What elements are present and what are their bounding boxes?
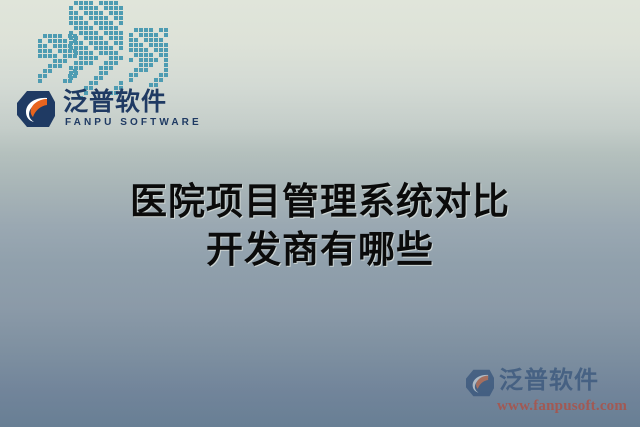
page-title-line-1: 医院项目管理系统对比 (0, 178, 640, 226)
fanpu-logo-icon (465, 369, 495, 397)
watermark-chinese-name: 泛普软件 (499, 367, 599, 395)
fanpu-logo-icon (16, 90, 56, 128)
watermark-url: www.fanpusoft.com (497, 398, 627, 415)
page-title: 医院项目管理系统对比 开发商有哪些 (0, 178, 640, 274)
brand-logo-english-name: FANPU SOFTWARE (65, 117, 202, 128)
poster-canvas: 泛普软件 FANPU SOFTWARE 医院项目管理系统对比 开发商有哪些 泛普… (0, 0, 640, 427)
brand-logo: 泛普软件 FANPU SOFTWARE (16, 88, 176, 134)
page-title-line-2: 开发商有哪些 (0, 226, 640, 274)
pixel-cityscape-graphic (38, 0, 164, 86)
watermark: 泛普软件 www.fanpusoft.com (463, 365, 633, 421)
brand-logo-chinese-name: 泛普软件 (63, 88, 167, 116)
